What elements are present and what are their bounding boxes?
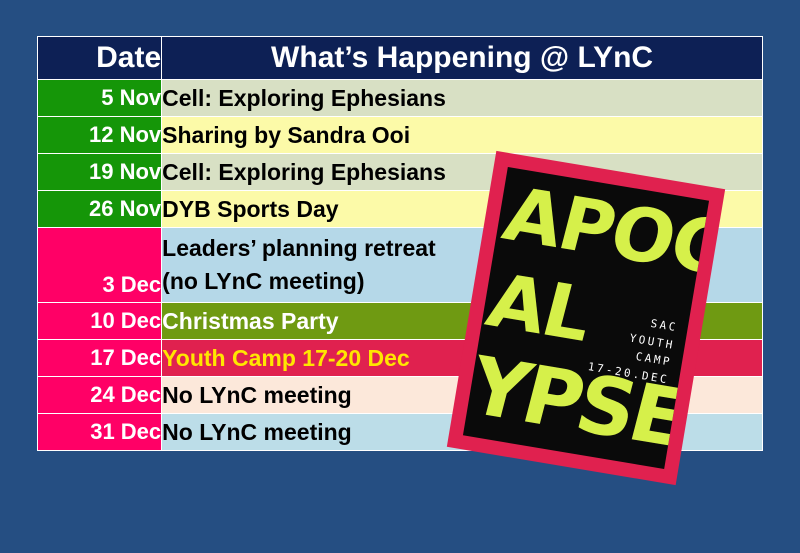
poster-caption: SAC YOUTH CAMP 17-20.DEC	[586, 306, 679, 389]
apocalypse-poster-image: APOC AL YPSE SAC YOUTH CAMP 17-20.DEC	[447, 151, 725, 485]
event-cell: Cell: Exploring Ephesians	[162, 80, 763, 117]
table-row: 12 Nov Sharing by Sandra Ooi	[38, 117, 763, 154]
date-cell: 17 Dec	[38, 340, 162, 377]
date-cell: 10 Dec	[38, 303, 162, 340]
date-cell: 31 Dec	[38, 414, 162, 451]
event-cell: Sharing by Sandra Ooi	[162, 117, 763, 154]
poster-inner-panel: APOC AL YPSE SAC YOUTH CAMP 17-20.DEC	[463, 167, 709, 469]
column-header-date: Date	[38, 37, 162, 80]
date-cell: 12 Nov	[38, 117, 162, 154]
slide-canvas: Date What’s Happening @ LYnC 5 Nov Cell:…	[0, 0, 800, 553]
poster-title-line-2: AL	[482, 271, 596, 347]
table-row: 5 Nov Cell: Exploring Ephesians	[38, 80, 763, 117]
column-header-event: What’s Happening @ LYnC	[162, 37, 763, 80]
date-cell: 5 Nov	[38, 80, 162, 117]
date-cell: 19 Nov	[38, 154, 162, 191]
table-header-row: Date What’s Happening @ LYnC	[38, 37, 763, 80]
date-cell: 24 Dec	[38, 377, 162, 414]
date-cell: 26 Nov	[38, 191, 162, 228]
date-cell: 3 Dec	[38, 228, 162, 303]
